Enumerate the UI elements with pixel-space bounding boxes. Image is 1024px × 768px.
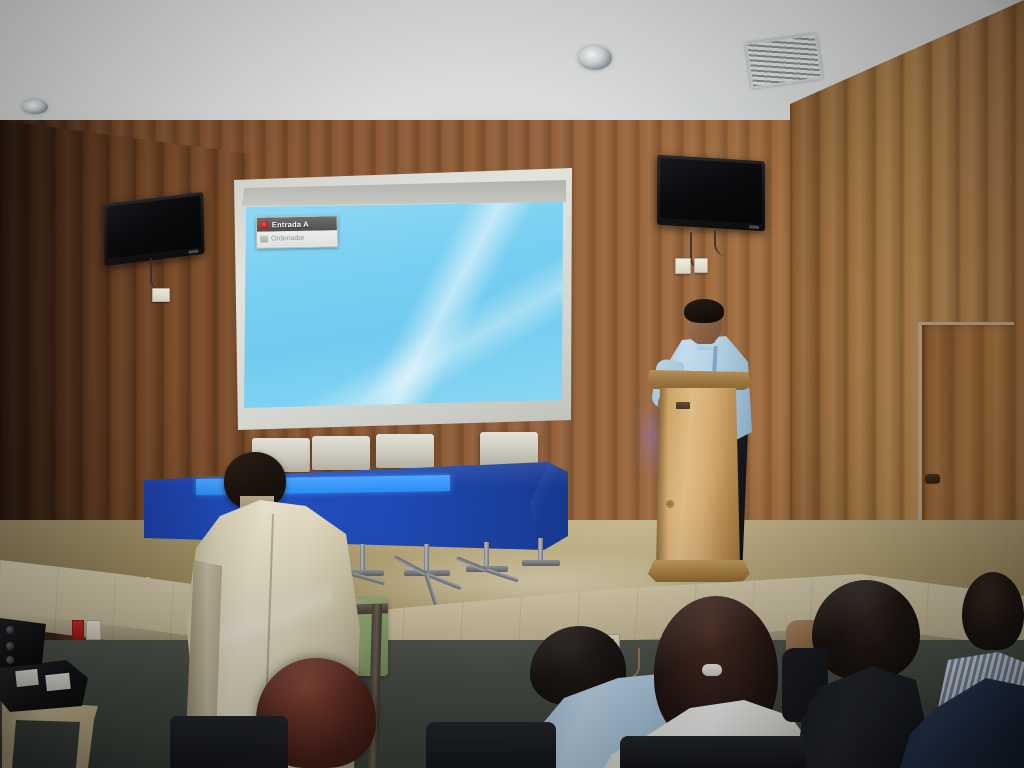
podium-base — [648, 560, 750, 582]
wall-mounted-tv-right — [657, 155, 765, 232]
equipment-knob-icon — [6, 656, 14, 664]
red-switch-icon[interactable] — [72, 620, 84, 640]
conference-room-photo: Entrada A Ordenador — [0, 0, 1024, 768]
panel-chair — [376, 434, 434, 468]
osd-titlebar: Entrada A — [257, 216, 337, 231]
podium-emblem — [676, 402, 690, 409]
tv-screen — [107, 195, 202, 258]
audience-seat-back — [170, 716, 288, 768]
wall-mounted-tv-left — [103, 192, 204, 266]
wall-plate-right-2 — [694, 258, 708, 273]
audience-seat-back — [426, 722, 556, 768]
projection-screen: Entrada A Ordenador — [232, 168, 572, 430]
tv-screen — [660, 158, 762, 224]
chair-base — [522, 560, 560, 566]
equipment-label — [45, 673, 71, 691]
panel-chair — [312, 436, 370, 470]
door-handle-icon[interactable] — [925, 474, 940, 483]
audience-seat-back — [620, 736, 806, 768]
tv-cable-left — [150, 258, 170, 290]
osd-option-text: Ordenador — [271, 234, 305, 244]
downlight-icon — [578, 46, 612, 70]
wall-plate-right — [675, 258, 691, 274]
tv-cable-right-2 — [714, 230, 736, 256]
podium-top-surface — [646, 370, 752, 390]
audience-man-navy-jacket-head — [962, 572, 1024, 650]
equipment-label — [15, 669, 39, 687]
presenter-hair — [684, 299, 724, 323]
osd-body: Ordenador — [257, 230, 337, 246]
podium-wood-knot — [666, 500, 674, 508]
equipment-knob-icon — [6, 642, 14, 650]
equipment-knob-icon — [6, 626, 14, 634]
wall-switch-plate[interactable] — [86, 620, 101, 640]
computer-icon — [260, 236, 268, 243]
osd-source-icon — [260, 220, 269, 229]
wall-plate-left — [152, 288, 170, 302]
tv-logo — [749, 225, 759, 229]
downlight-icon — [22, 100, 48, 114]
tv-logo — [188, 250, 198, 254]
projector-osd-dialog: Entrada A Ordenador — [256, 215, 339, 248]
av-equipment-case — [0, 660, 88, 712]
hair-tie-icon — [702, 664, 722, 676]
jacket-fold-highlight — [212, 560, 332, 670]
panel-chair — [480, 432, 538, 466]
osd-title-text: Entrada A — [272, 219, 309, 229]
